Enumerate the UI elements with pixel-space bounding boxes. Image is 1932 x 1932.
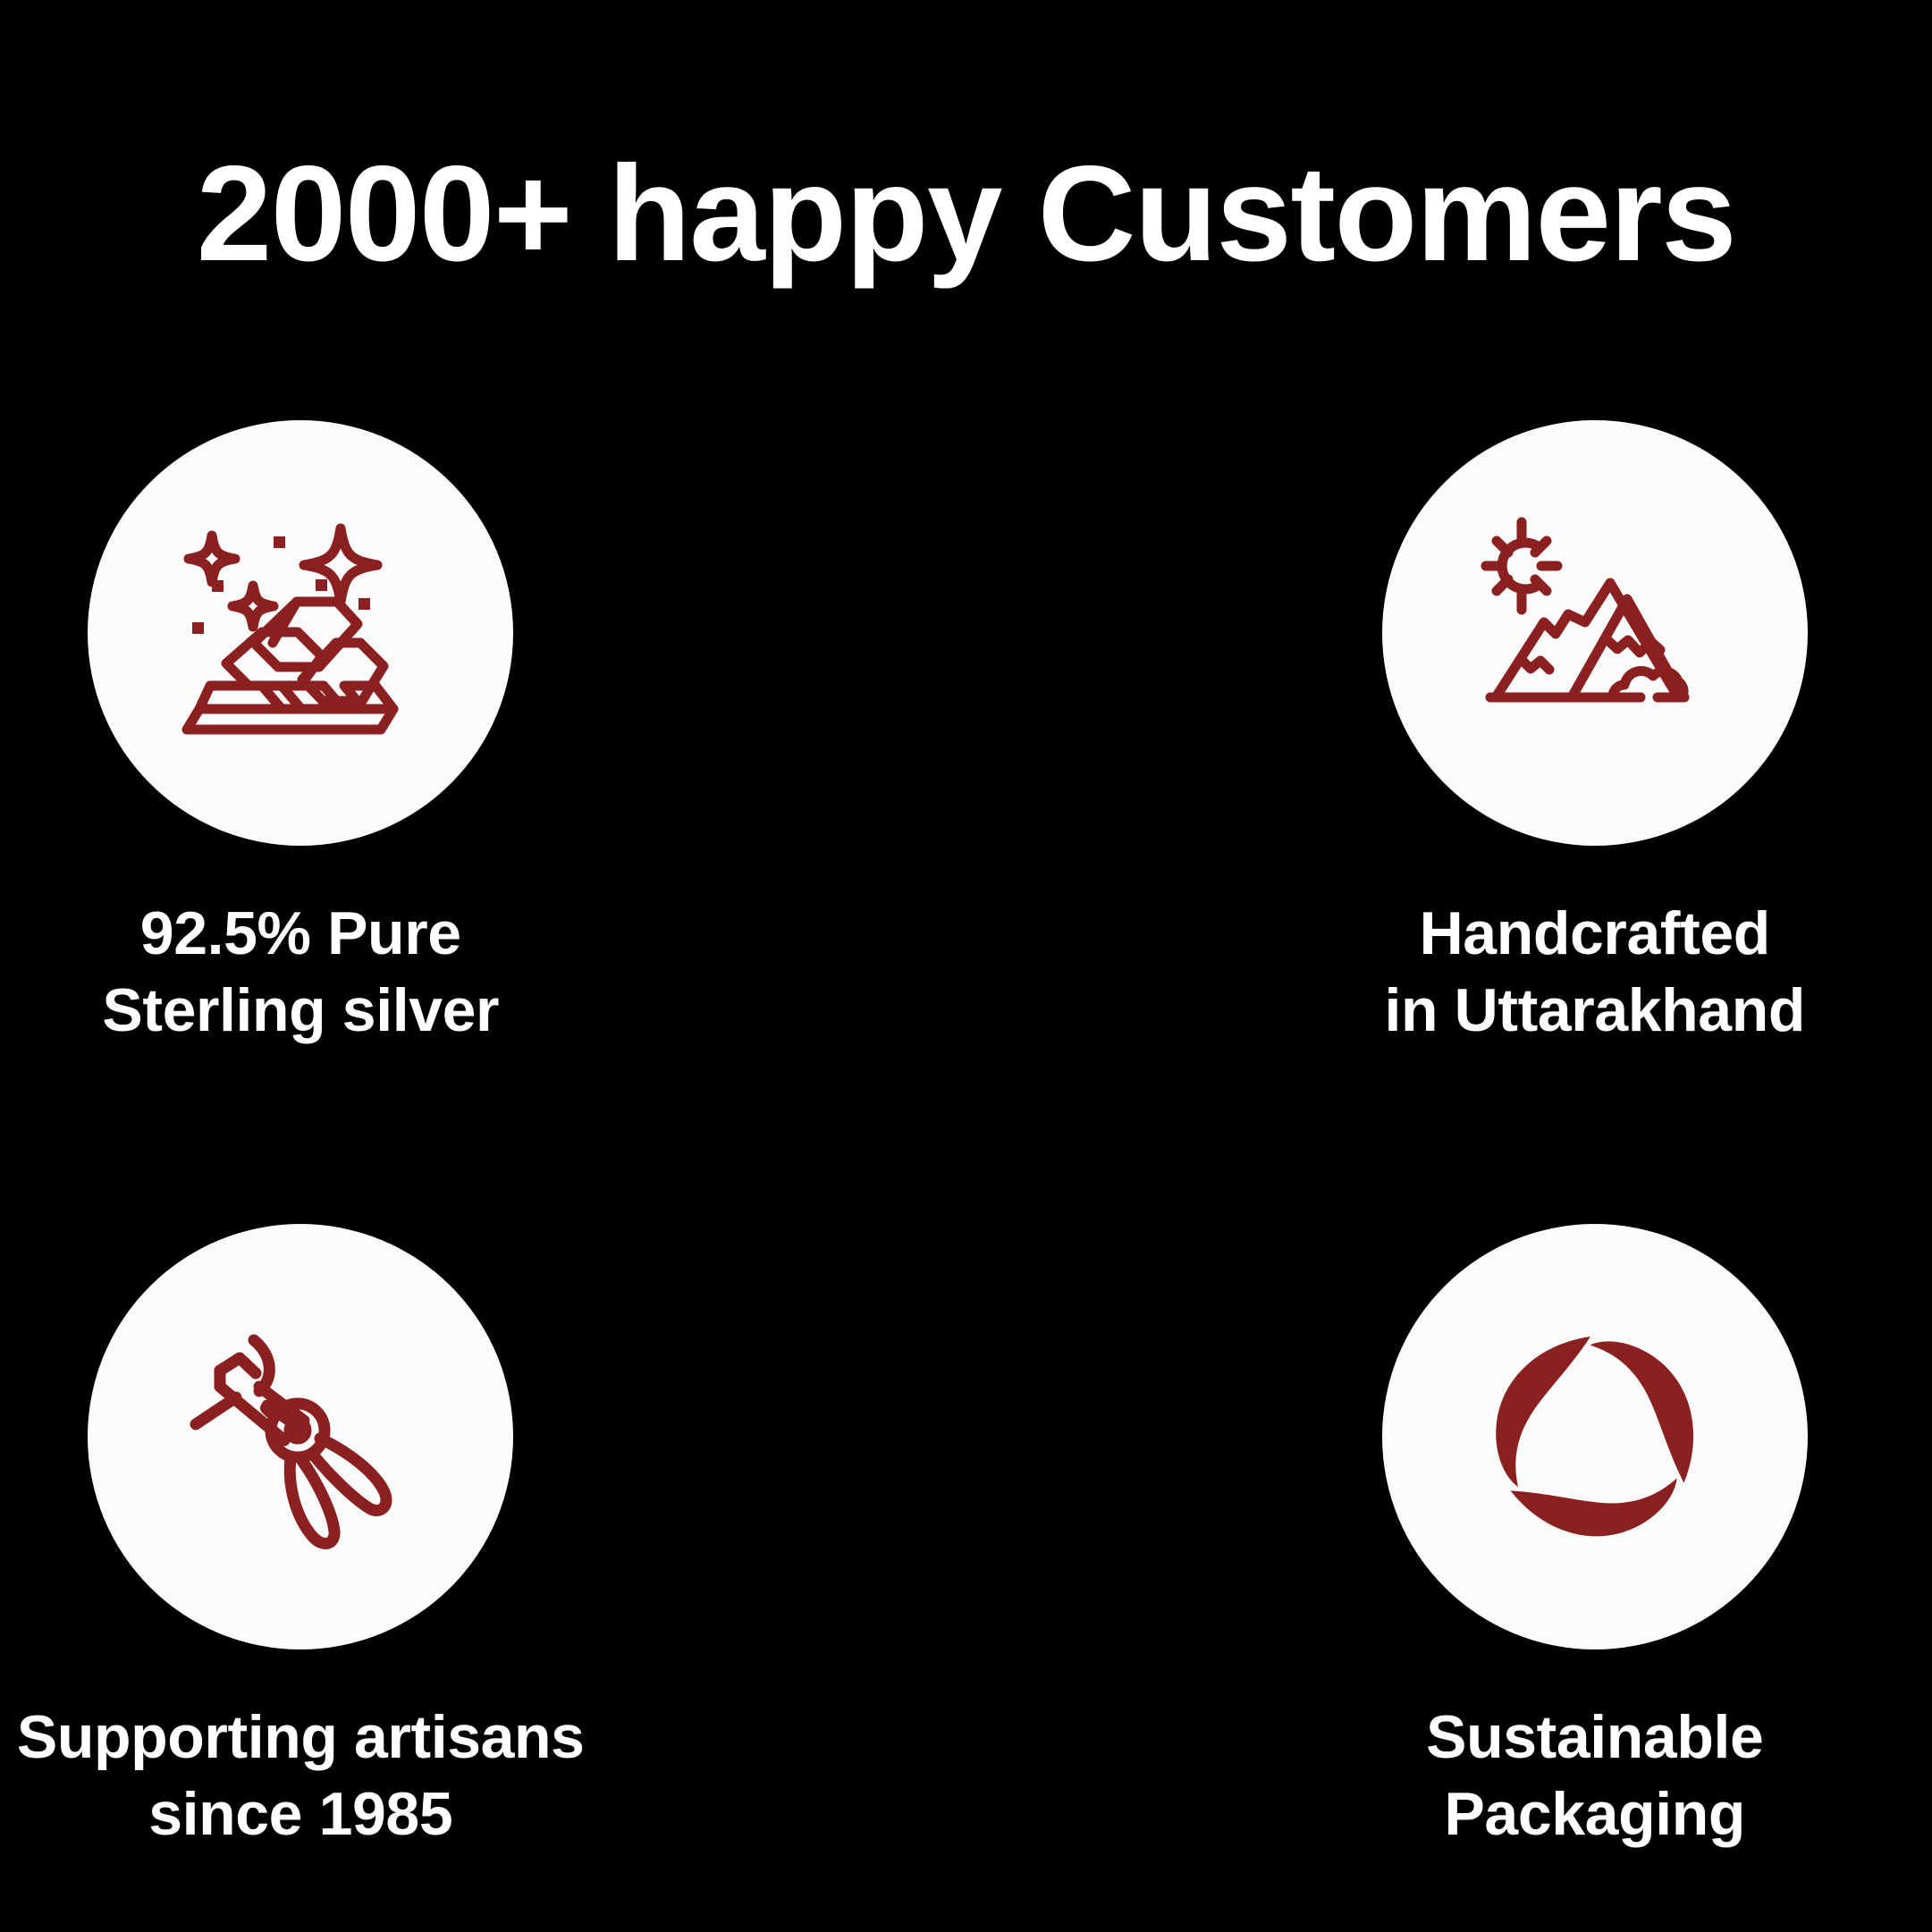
feature-icon-badge [1382, 420, 1808, 846]
feature-item-packaging: Sustainable Packaging [966, 1224, 1932, 1852]
promo-poster: 2000+ happy Customers [0, 0, 1932, 1932]
three-leaves-recycle-icon [1461, 1303, 1729, 1571]
feature-caption: 92.5% Pure Sterling silver [102, 895, 499, 1049]
feature-item-artisans: Supporting artisans since 1985 [0, 1224, 966, 1852]
silver-bars-sparkle-icon [153, 485, 448, 780]
feature-icon-badge [88, 1224, 513, 1649]
pliers-tool-icon [166, 1303, 434, 1571]
feature-icon-badge [1382, 1224, 1808, 1649]
feature-grid: 92.5% Pure Sterling silver [0, 420, 1932, 1852]
feature-caption: Supporting artisans since 1985 [17, 1699, 585, 1852]
page-title: 2000+ happy Customers [0, 134, 1932, 294]
feature-icon-badge [88, 420, 513, 846]
feature-caption: Handcrafted in Uttarakhand [1385, 895, 1805, 1049]
feature-item-handcrafted: Handcrafted in Uttarakhand [966, 420, 1932, 1049]
mountains-sun-icon [1452, 490, 1738, 776]
feature-item-sterling-silver: 92.5% Pure Sterling silver [0, 420, 966, 1049]
feature-caption: Sustainable Packaging [1426, 1699, 1763, 1852]
